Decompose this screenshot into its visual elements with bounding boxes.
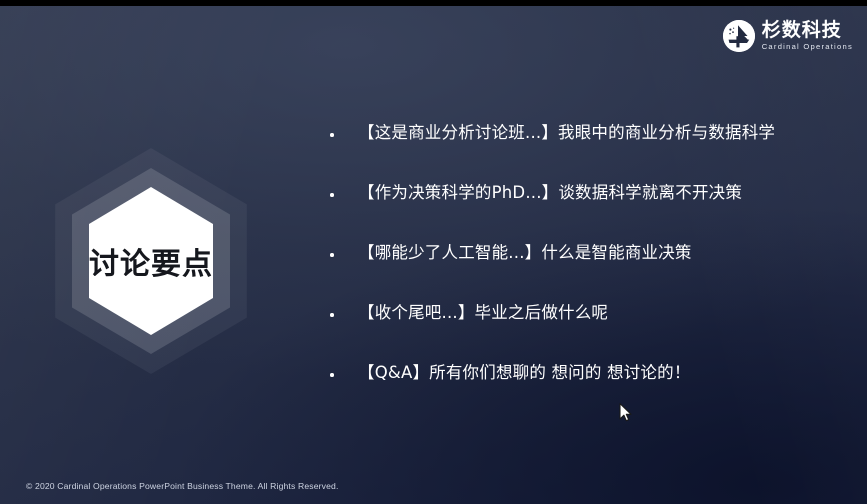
bullet-text: 【作为决策科学的PhD...】谈数据科学就离不开决策 (358, 182, 742, 204)
presentation-slide: 杉数科技 Cardinal Operations 讨论要点 【这是商业分析讨论班… (0, 6, 867, 504)
bullet-text: 【这是商业分析讨论班...】我眼中的商业分析与数据科学 (358, 122, 775, 144)
cedar-tree-circle-logo-icon (723, 20, 755, 52)
hexagon-badge-label: 讨论要点 (89, 239, 213, 283)
bullet-text: 【哪能少了人工智能...】什么是智能商业决策 (358, 242, 692, 264)
bullet-dot-icon (322, 242, 358, 257)
list-item: 【这是商业分析讨论班...】我眼中的商业分析与数据科学 (322, 122, 852, 182)
list-item: 【收个尾吧...】毕业之后做什么呢 (322, 302, 852, 362)
list-item: 【哪能少了人工智能...】什么是智能商业决策 (322, 242, 852, 302)
bullet-dot-icon (322, 182, 358, 197)
list-item: 【Q&A】所有你们想聊的 想问的 想讨论的！ (322, 362, 852, 422)
hexagon-title-badge: 讨论要点 (46, 136, 256, 386)
brand-logo: 杉数科技 Cardinal Operations (723, 20, 853, 52)
bullet-text: 【Q&A】所有你们想聊的 想问的 想讨论的！ (358, 362, 691, 384)
bullet-dot-icon (322, 362, 358, 377)
copyright-footer: © 2020 Cardinal Operations PowerPoint Bu… (26, 481, 338, 491)
agenda-bullet-list: 【这是商业分析讨论班...】我眼中的商业分析与数据科学 【作为决策科学的PhD.… (322, 122, 852, 422)
logo-wordmark: 杉数科技 Cardinal Operations (762, 21, 853, 51)
bullet-dot-icon (322, 302, 358, 317)
list-item: 【作为决策科学的PhD...】谈数据科学就离不开决策 (322, 182, 852, 242)
bullet-text: 【收个尾吧...】毕业之后做什么呢 (358, 302, 608, 324)
logo-english-name: Cardinal Operations (762, 43, 853, 51)
bullet-dot-icon (322, 122, 358, 137)
logo-chinese-name: 杉数科技 (762, 21, 853, 40)
